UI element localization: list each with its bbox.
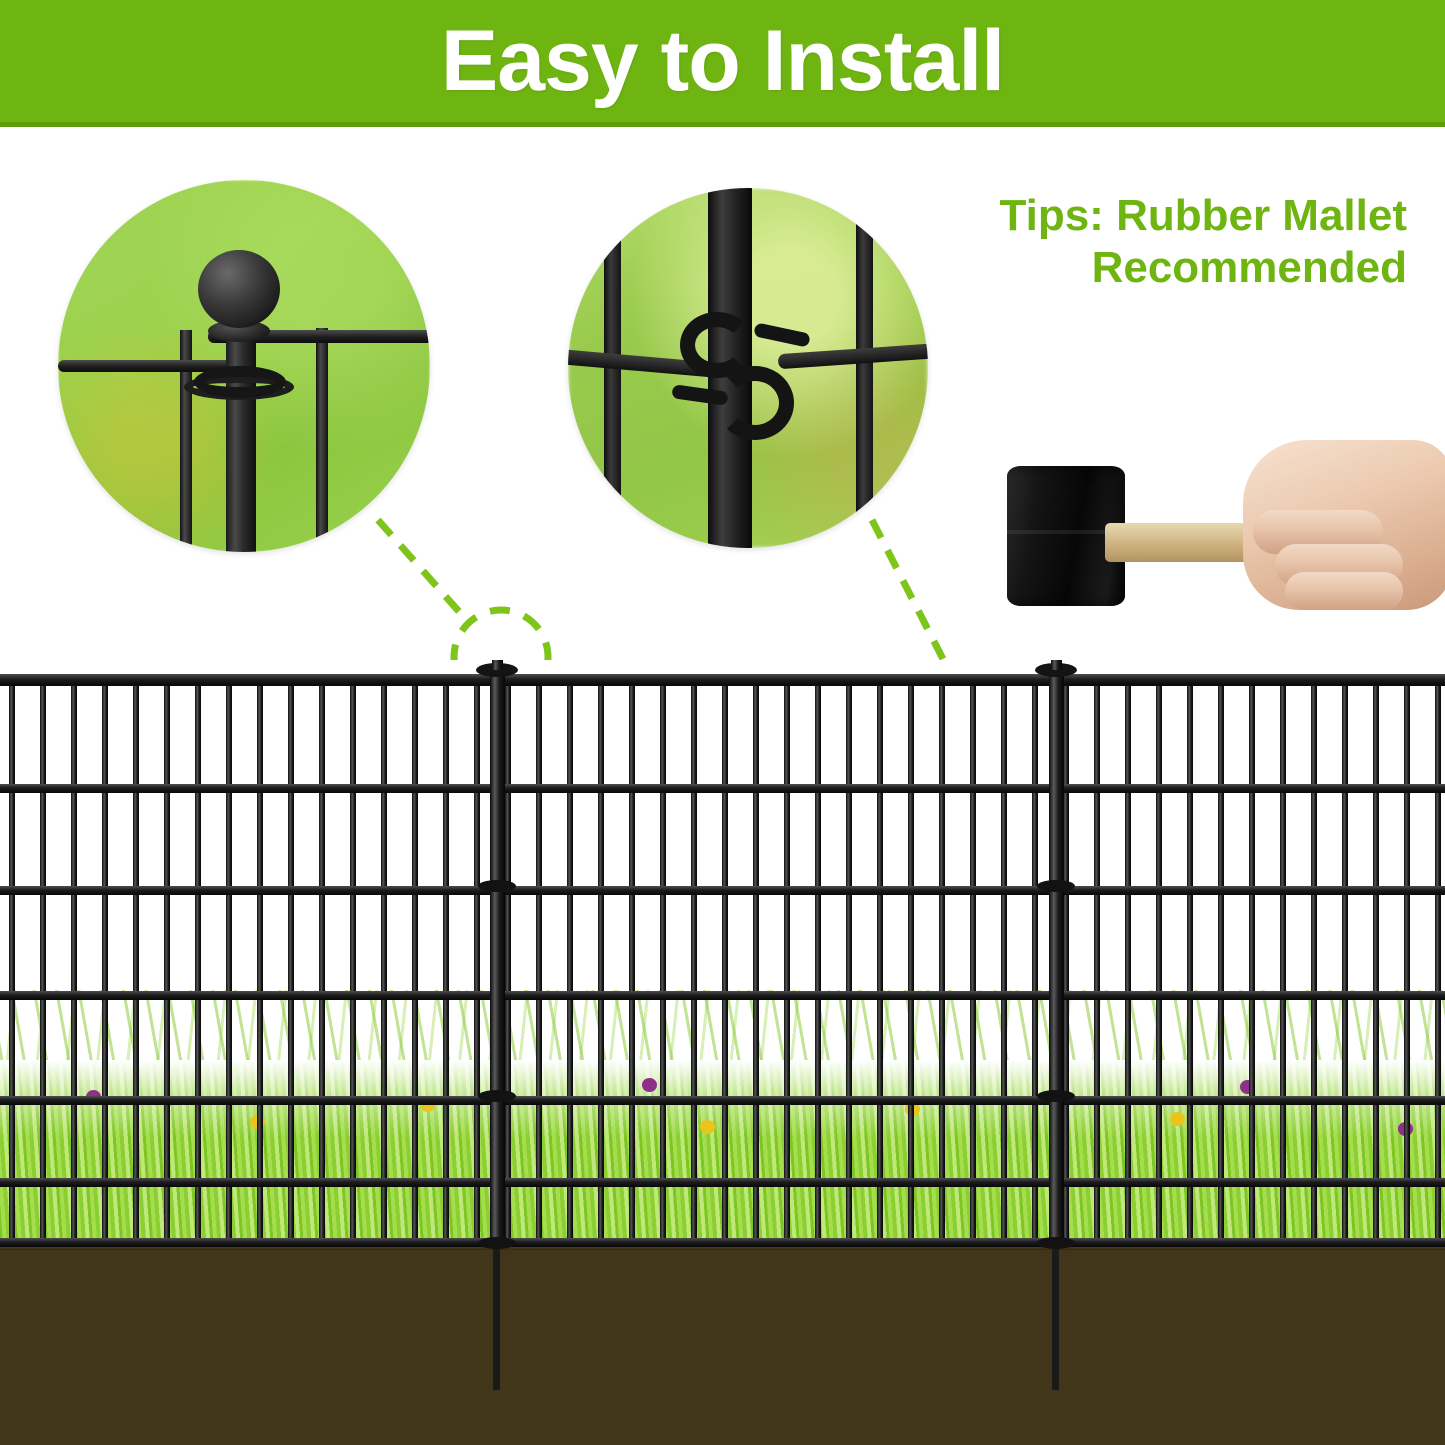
ball-finial-icon: [198, 250, 280, 328]
rail-5: [0, 1096, 1445, 1105]
post-2-s-hook-mid-lower: [1037, 1090, 1075, 1102]
shook-detail-bar-right: [856, 188, 873, 548]
page-title: Easy to Install: [441, 18, 1004, 104]
header-banner: Easy to Install: [0, 0, 1445, 122]
rail-3: [0, 886, 1445, 895]
rail-top: [0, 674, 1445, 686]
post-1-s-hook-bottom: [478, 1237, 516, 1249]
finial-detail-vertical-bar-right: [316, 328, 328, 552]
rail-bottom: [0, 1238, 1445, 1247]
right-callout-circle: [568, 188, 928, 548]
s-hook-icon-lower-loop: [716, 366, 794, 440]
post-1-finial-neck: [492, 660, 503, 670]
fence-vertical-bars: [0, 684, 1445, 1245]
fence-structure: [0, 660, 1445, 1445]
rubber-mallet-illustration: [985, 440, 1445, 630]
rail-2: [0, 784, 1445, 793]
rail-4: [0, 991, 1445, 1000]
tips-text-block: Tips: Rubber Mallet Recommended: [947, 190, 1407, 294]
post-1-shaft: [490, 668, 505, 1248]
post-1-s-hook-mid-upper: [478, 880, 516, 892]
banner-underline-divider: [0, 122, 1445, 127]
left-callout-circle: [58, 180, 430, 552]
post-2-s-hook-bottom: [1037, 1237, 1075, 1249]
post-1-ground-stake: [493, 1245, 500, 1390]
finial-detail-post: [226, 330, 256, 552]
tips-line-2: Recommended: [947, 242, 1407, 294]
fence-installation-scene: [0, 660, 1445, 1445]
tips-line-1: Tips: Rubber Mallet: [947, 190, 1407, 242]
post-1-s-hook-mid-lower: [478, 1090, 516, 1102]
finger-ring: [1285, 572, 1403, 610]
tips-label: Tips:: [1000, 191, 1104, 240]
rail-6: [0, 1178, 1445, 1187]
post-2-ground-stake: [1052, 1245, 1059, 1390]
post-2-finial-neck: [1051, 660, 1062, 670]
post-2-s-hook-mid-upper: [1037, 880, 1075, 892]
tips-line-1-rest: Rubber Mallet: [1104, 191, 1407, 240]
post-2-shaft: [1049, 668, 1064, 1248]
finial-detail-hook-ring: [194, 366, 286, 398]
